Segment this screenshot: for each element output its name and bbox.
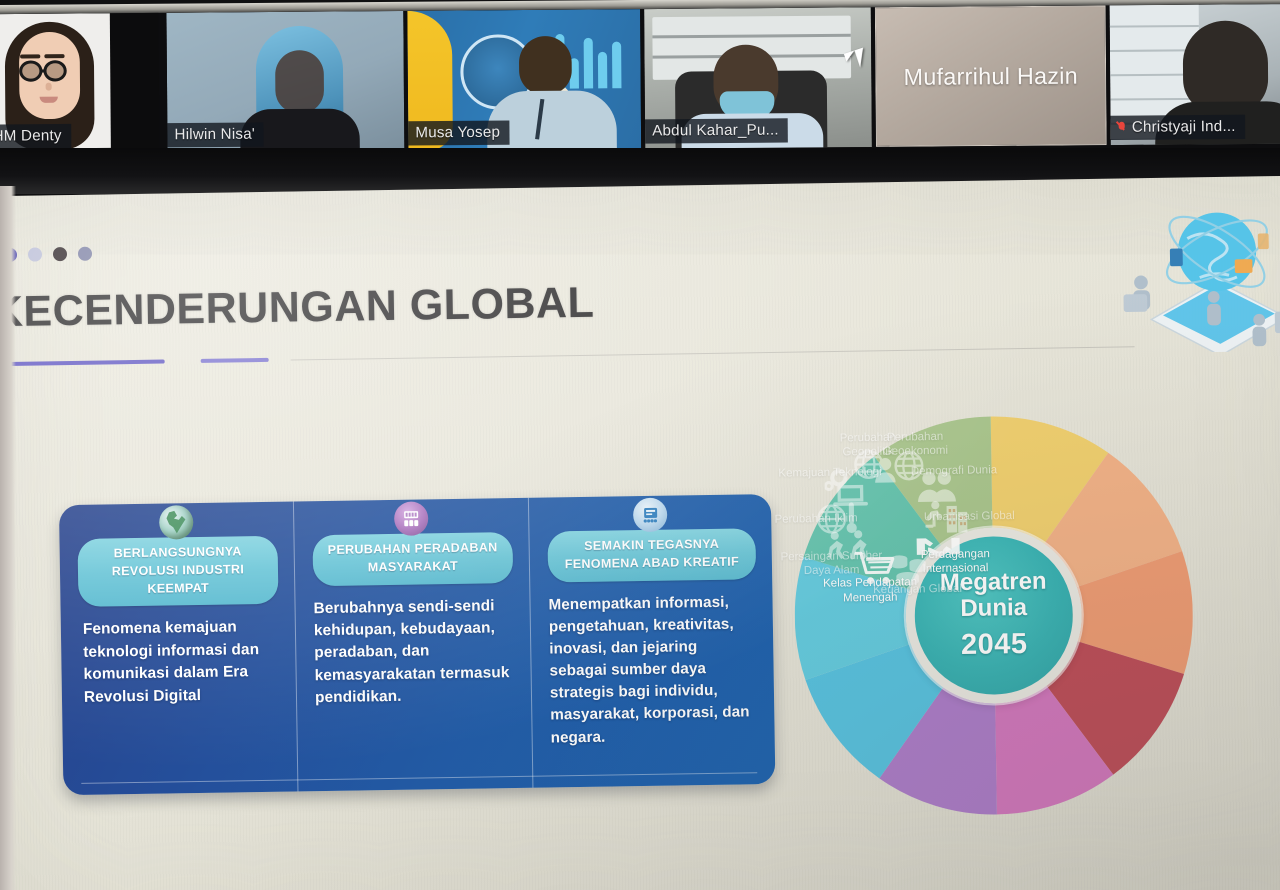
rule-segment-hairline xyxy=(291,346,1135,360)
participant-name: Abdul Kahar_Pu... xyxy=(652,121,779,139)
card-body: Berubahnya sendi-sendi kehidupan, kebuda… xyxy=(313,595,515,711)
deco-dot xyxy=(28,247,42,261)
hub-line-2: Dunia xyxy=(960,594,1027,622)
society-chip-icon xyxy=(394,501,429,536)
deco-dot xyxy=(78,247,92,261)
megatren-dunia-wheel-chart: Megatren Dunia 2045 Perubahan Geoekonomi… xyxy=(792,413,1196,817)
participant-name-badge: KHM Denty xyxy=(0,124,71,149)
participant-name: Musa Yosep xyxy=(415,124,500,142)
participant-tile-5[interactable]: Christyaji Ind... xyxy=(1110,4,1280,145)
video-off-placeholder: Mufarrihul Hazin xyxy=(875,5,1107,146)
card-body: Menempatkan informasi, pengetahuan, krea… xyxy=(548,591,758,750)
participant-name: Mufarrihul Hazin xyxy=(876,6,1106,145)
muted-microphone-icon xyxy=(1118,121,1127,133)
card-0: BERLANGSUNGNYA REVOLUSI INDUSTRI KEEMPAT… xyxy=(59,502,298,796)
slide-decoration-dots xyxy=(3,247,92,262)
card-1: PERUBAHAN PERADABAN MASYARAKAT Berubahny… xyxy=(293,498,533,792)
deco-dot xyxy=(53,247,67,261)
card-body: Fenomena kemajuan teknologi informasi da… xyxy=(79,616,280,709)
participant-tile-4[interactable]: Mufarrihul Hazin xyxy=(875,5,1107,146)
presentation-slide: KECENDERUNGAN GLOBAL xyxy=(0,175,1280,890)
global-network-illustration-icon xyxy=(1110,194,1280,357)
rule-segment-primary xyxy=(0,360,165,367)
rule-segment-secondary xyxy=(201,358,269,363)
participant-name: Christyaji Ind... xyxy=(1132,118,1236,136)
page-title: KECENDERUNGAN GLOBAL xyxy=(0,279,595,337)
participant-tile-0[interactable]: KHM Denty xyxy=(0,13,159,154)
creative-document-icon xyxy=(633,498,668,533)
participant-tile-1[interactable]: Hilwin Nisa' xyxy=(166,11,404,153)
card-heading: PERUBAHAN PERADABAN MASYARAKAT xyxy=(312,532,513,586)
title-underline xyxy=(0,344,1135,366)
hub-year: 2045 xyxy=(961,628,1028,662)
participant-name: KHM Denty xyxy=(0,127,62,145)
three-column-card-panel: BERLANGSUNGNYA REVOLUSI INDUSTRI KEEMPAT… xyxy=(59,494,775,795)
participant-tile-3[interactable]: Abdul Kahar_Pu... xyxy=(644,7,872,148)
participant-name-badge: Abdul Kahar_Pu... xyxy=(645,118,788,143)
participant-name-badge: Musa Yosep xyxy=(408,120,509,145)
card-heading: SEMAKIN TEGASNYA FENOMENA ABAD KREATIF xyxy=(547,528,756,582)
participant-tile-2[interactable]: Musa Yosep xyxy=(407,9,641,150)
participant-name-badge: Christyaji Ind... xyxy=(1110,115,1244,140)
screenshot-root: KHM Denty Hilwin Nisa' xyxy=(0,0,1280,890)
participant-name: Hilwin Nisa' xyxy=(174,125,255,143)
screen-left-edge xyxy=(0,186,16,890)
zoom-participant-strip[interactable]: KHM Denty Hilwin Nisa' xyxy=(0,0,1280,159)
hub-line-1: Megatren xyxy=(940,567,1047,596)
globe-icon xyxy=(159,505,194,540)
card-2: SEMAKIN TEGASNYA FENOMENA ABAD KREATIF M… xyxy=(528,494,776,788)
card-heading: BERLANGSUNGNYA REVOLUSI INDUSTRI KEEMPAT xyxy=(77,536,278,607)
participant-name-badge: Hilwin Nisa' xyxy=(167,122,264,147)
